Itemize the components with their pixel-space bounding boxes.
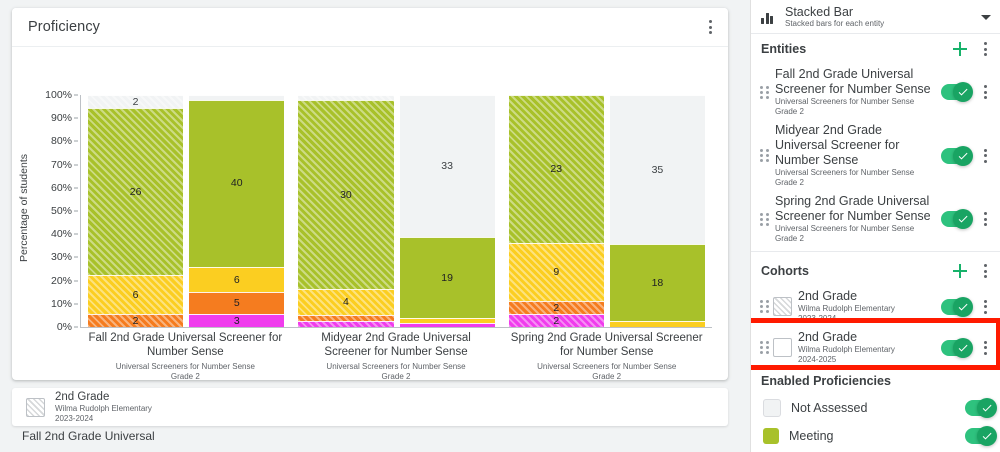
x-axis-label-sub2: Grade 2 (507, 372, 706, 380)
proficiency-label: Meeting (789, 429, 955, 443)
cohort-sub1: Wilma Rudolph Elementary (798, 345, 937, 355)
cohort-row[interactable]: 2nd GradeWilma Rudolph Elementary2024-20… (751, 327, 1000, 368)
cohort-text: 2nd GradeWilma Rudolph Elementary2024-20… (796, 330, 937, 365)
sidebar-header-text: Stacked Bar Stacked bars for each entity (785, 5, 969, 29)
app-root: Proficiency Percentage of students 0%10%… (0, 0, 1000, 452)
bar-group: 2626235640 (81, 95, 291, 327)
bar-segment[interactable] (189, 95, 284, 100)
bar-segment[interactable]: 35 (610, 95, 705, 244)
divider (751, 251, 1000, 252)
bar-segment-value: 18 (652, 278, 664, 289)
y-axis-tickmark (74, 234, 78, 235)
entity-sub2: Grade 2 (775, 178, 937, 188)
x-axis-label-main: Fall 2nd Grade Universal Screener for Nu… (86, 331, 285, 359)
cohort-title: 2nd Grade (798, 289, 937, 304)
cohorts-title: Cohorts (761, 264, 945, 278)
bar-segment-value: 35 (652, 165, 664, 176)
proficiency-card: Proficiency Percentage of students 0%10%… (12, 8, 728, 380)
y-axis-tick: 70% (51, 159, 72, 171)
sidebar-header-title: Stacked Bar (785, 5, 969, 19)
stacked-bar[interactable]: 35640 (189, 95, 284, 327)
bar-segment[interactable]: 23 (509, 95, 604, 243)
bar-segment[interactable]: 6 (189, 267, 284, 293)
add-entity-plus-icon[interactable] (949, 38, 971, 60)
y-axis-tickmark (74, 118, 78, 119)
y-axis-tick: 60% (51, 182, 72, 194)
toggle-knob (953, 146, 973, 166)
y-axis-tickmark (74, 141, 78, 142)
bar-segment-value: 26 (130, 187, 142, 198)
entity-sub2: Grade 2 (775, 234, 937, 244)
entity-kebab-menu-icon[interactable] (975, 81, 995, 103)
cohort-text: 2nd GradeWilma Rudolph Elementary2023-20… (796, 289, 937, 324)
proficiency-swatch-icon (763, 428, 779, 444)
bar-segment-value: 30 (340, 190, 352, 201)
y-axis-tickmark (74, 257, 78, 258)
config-sidebar: Stacked Bar Stacked bars for each entity… (750, 0, 1000, 452)
proficiency-toggle[interactable] (965, 400, 995, 416)
stacked-bar[interactable]: 430 (298, 95, 393, 327)
cohort-legend-strip[interactable]: 2nd Grade Wilma Rudolph Elementary 2023-… (12, 388, 728, 426)
y-axis-tick: 20% (51, 275, 72, 287)
entity-title: Fall 2nd Grade Universal Screener for Nu… (775, 67, 937, 97)
bar-segment[interactable]: 33 (400, 95, 495, 237)
drag-handle-icon[interactable] (759, 340, 769, 356)
cohort-pattern-icon (773, 338, 792, 357)
entity-kebab-menu-icon[interactable] (975, 208, 995, 230)
toggle-knob (953, 338, 973, 358)
entity-title: Spring 2nd Grade Universal Screener for … (775, 194, 937, 224)
bar-segment-value: 2 (133, 97, 139, 108)
x-axis-label-sub1: Universal Screeners for Number Sense (86, 362, 285, 372)
bar-segment[interactable] (298, 95, 393, 100)
sidebar-header[interactable]: Stacked Bar Stacked bars for each entity (751, 0, 1000, 34)
kebab-menu-icon[interactable] (696, 13, 724, 41)
entity-sub1: Universal Screeners for Number Sense (775, 224, 937, 234)
entity-text: Spring 2nd Grade Universal Screener for … (773, 194, 937, 244)
proficiency-swatch-icon (763, 399, 781, 417)
entity-toggle[interactable] (941, 211, 971, 227)
entity-toggle[interactable] (941, 148, 971, 164)
cohort-kebab-menu-icon[interactable] (975, 296, 995, 318)
bar-segment[interactable]: 40 (189, 100, 284, 267)
bar-groups: 26262356404301933229231835 (81, 95, 712, 327)
y-axis-tickmark (74, 95, 78, 96)
bar-segment[interactable]: 26 (88, 108, 183, 276)
entity-row[interactable]: Spring 2nd Grade Universal Screener for … (751, 191, 1000, 247)
entity-row[interactable]: Midyear 2nd Grade Universal Screener for… (751, 120, 1000, 191)
y-axis-tick: 0% (57, 321, 72, 333)
cohort-kebab-menu-icon[interactable] (975, 337, 995, 359)
bar-group: 229231835 (502, 95, 712, 327)
entities-section-header: Entities (751, 34, 1000, 64)
bar-segment[interactable]: 18 (610, 244, 705, 321)
bar-segment-value: 3 (234, 316, 240, 327)
entity-row[interactable]: Fall 2nd Grade Universal Screener for Nu… (751, 64, 1000, 120)
toggle-knob (953, 209, 973, 229)
proficiency-toggle[interactable] (965, 428, 995, 444)
bar-segment[interactable]: 2 (88, 95, 183, 108)
cohort-strip-year: 2023-2024 (55, 414, 152, 424)
x-axis-label-sub2: Grade 2 (86, 372, 285, 380)
stacked-bar[interactable]: 26262 (88, 95, 183, 327)
y-axis-tick: 90% (51, 112, 72, 124)
page-title: Proficiency (28, 19, 100, 35)
bar-segment[interactable]: 6 (88, 275, 183, 314)
add-cohort-plus-icon[interactable] (949, 260, 971, 282)
entity-toggle[interactable] (941, 84, 971, 100)
bar-segment[interactable]: 2 (88, 314, 183, 327)
bar-segment-value: 6 (133, 290, 139, 301)
bar-segment[interactable]: 9 (509, 243, 604, 301)
cohort-sub2: 2024-2025 (798, 355, 937, 365)
x-axis-labels: Fall 2nd Grade Universal Screener for Nu… (80, 331, 712, 380)
y-axis-tick: 80% (51, 135, 72, 147)
y-axis-tickmark (74, 187, 78, 188)
y-axis-tickmark (74, 280, 78, 281)
proficiencies-title: Enabled Proficiencies (761, 374, 995, 388)
toggle-knob (977, 426, 997, 446)
bottom-overflow-text: Fall 2nd Grade Universal (22, 429, 322, 444)
proficiencies-section-header: Enabled Proficiencies (751, 368, 1000, 394)
bar-segment-value: 9 (553, 267, 559, 278)
y-axis-tickmark (74, 164, 78, 165)
bar-segment[interactable] (298, 321, 393, 327)
chevron-down-icon[interactable] (977, 8, 995, 26)
bar-segment-value: 2 (553, 303, 559, 314)
cohort-sub1: Wilma Rudolph Elementary (798, 304, 937, 314)
cohort-toggle[interactable] (941, 299, 971, 315)
chart-pane: Proficiency Percentage of students 0%10%… (0, 0, 740, 452)
cohort-pattern-icon (773, 297, 792, 316)
bar-segment-value: 33 (441, 161, 453, 172)
bar-segment[interactable]: 3 (189, 314, 284, 327)
toggle-knob (953, 82, 973, 102)
proficiency-row[interactable]: Meeting (751, 422, 1000, 450)
drag-handle-icon[interactable] (759, 84, 769, 100)
drag-handle-icon[interactable] (759, 148, 769, 164)
sidebar-header-subtitle: Stacked bars for each entity (785, 19, 969, 29)
stacked-bar[interactable]: 22923 (509, 95, 604, 327)
y-axis-tick: 10% (51, 298, 72, 310)
entity-sub1: Universal Screeners for Number Sense (775, 168, 937, 178)
entity-sub1: Universal Screeners for Number Sense (775, 97, 937, 107)
bar-segment[interactable] (610, 321, 705, 327)
entity-sub2: Grade 2 (775, 107, 937, 117)
x-axis-label-sub2: Grade 2 (297, 372, 496, 380)
bar-segment[interactable]: 2 (509, 314, 604, 327)
cohorts-list: 2nd GradeWilma Rudolph Elementary2023-20… (751, 286, 1000, 368)
toggle-knob (953, 297, 973, 317)
y-axis-tickmark (74, 327, 78, 328)
bar-segment[interactable]: 30 (298, 100, 393, 290)
x-axis-group-label: Midyear 2nd Grade Universal Screener for… (291, 331, 502, 380)
proficiencies-list: Not AssessedMeetingApproachingBeginningN… (751, 394, 1000, 452)
y-axis-label: Percentage of students (16, 103, 32, 313)
card-header: Proficiency (12, 8, 728, 47)
bar-segment[interactable] (298, 315, 393, 321)
entity-kebab-menu-icon[interactable] (975, 145, 995, 167)
entity-title: Midyear 2nd Grade Universal Screener for… (775, 123, 937, 168)
x-axis-label-main: Midyear 2nd Grade Universal Screener for… (297, 331, 496, 359)
cohort-toggle[interactable] (941, 340, 971, 356)
plot-area: 26262356404301933229231835 (80, 95, 712, 328)
bar-segment-value: 6 (234, 275, 240, 286)
cohort-strip-name: 2nd Grade (55, 391, 152, 404)
cohort-strip-text: 2nd Grade Wilma Rudolph Elementary 2023-… (55, 391, 152, 423)
y-axis-tick: 40% (51, 228, 72, 240)
bar-segment-value: 5 (234, 298, 240, 309)
bar-segment[interactable]: 4 (298, 289, 393, 315)
plot-wrapper: Percentage of students 0%10%20%30%40%50%… (12, 47, 728, 379)
bar-segment[interactable]: 2 (509, 301, 604, 314)
stacked-bar[interactable]: 1835 (610, 95, 705, 327)
cohort-strip-school: Wilma Rudolph Elementary (55, 404, 152, 414)
bar-segment-value: 4 (343, 297, 349, 308)
cohort-title: 2nd Grade (798, 330, 937, 345)
y-axis-tickmark (74, 303, 78, 304)
bar-group: 4301933 (291, 95, 501, 327)
bar-segment[interactable] (400, 318, 495, 323)
bar-segment-value: 2 (133, 316, 139, 327)
proficiency-row[interactable]: Not Assessed (751, 394, 1000, 422)
bar-segment[interactable] (400, 323, 495, 327)
entities-list: Fall 2nd Grade Universal Screener for Nu… (751, 64, 1000, 247)
x-axis-group-label: Spring 2nd Grade Universal Screener for … (501, 331, 712, 380)
y-axis-tick: 30% (51, 251, 72, 263)
drag-handle-icon[interactable] (759, 211, 769, 227)
bar-segment-value: 2 (553, 316, 559, 327)
x-axis-label-sub1: Universal Screeners for Number Sense (507, 362, 706, 372)
y-axis-tick: 50% (51, 205, 72, 217)
x-axis-group-label: Fall 2nd Grade Universal Screener for Nu… (80, 331, 291, 380)
stacked-bar[interactable]: 1933 (400, 95, 495, 327)
proficiency-label: Not Assessed (791, 401, 955, 415)
entity-text: Fall 2nd Grade Universal Screener for Nu… (773, 67, 937, 117)
cohort-sub2: 2023-2024 (798, 314, 937, 324)
y-axis-ticks: 0%10%20%30%40%50%60%70%80%90%100% (32, 95, 78, 327)
cohort-row[interactable]: 2nd GradeWilma Rudolph Elementary2023-20… (751, 286, 1000, 327)
bar-segment[interactable]: 19 (400, 237, 495, 318)
entities-title: Entities (761, 42, 945, 56)
y-axis-tick: 100% (45, 89, 72, 101)
bar-segment[interactable]: 5 (189, 292, 284, 314)
cohorts-kebab-menu-icon[interactable] (975, 260, 995, 282)
bar-segment-value: 23 (550, 164, 562, 175)
bar-chart-icon (761, 10, 777, 24)
bar-segment-value: 19 (441, 273, 453, 284)
bar-segment-value: 40 (231, 178, 243, 189)
drag-handle-icon[interactable] (759, 299, 769, 315)
entities-kebab-menu-icon[interactable] (975, 38, 995, 60)
x-axis-label-main: Spring 2nd Grade Universal Screener for … (507, 331, 706, 359)
y-axis-tickmark (74, 211, 78, 212)
toggle-knob (977, 398, 997, 418)
entity-text: Midyear 2nd Grade Universal Screener for… (773, 123, 937, 188)
x-axis-label-sub1: Universal Screeners for Number Sense (297, 362, 496, 372)
hatched-square-icon (26, 398, 45, 417)
cohorts-section-header: Cohorts (751, 256, 1000, 286)
